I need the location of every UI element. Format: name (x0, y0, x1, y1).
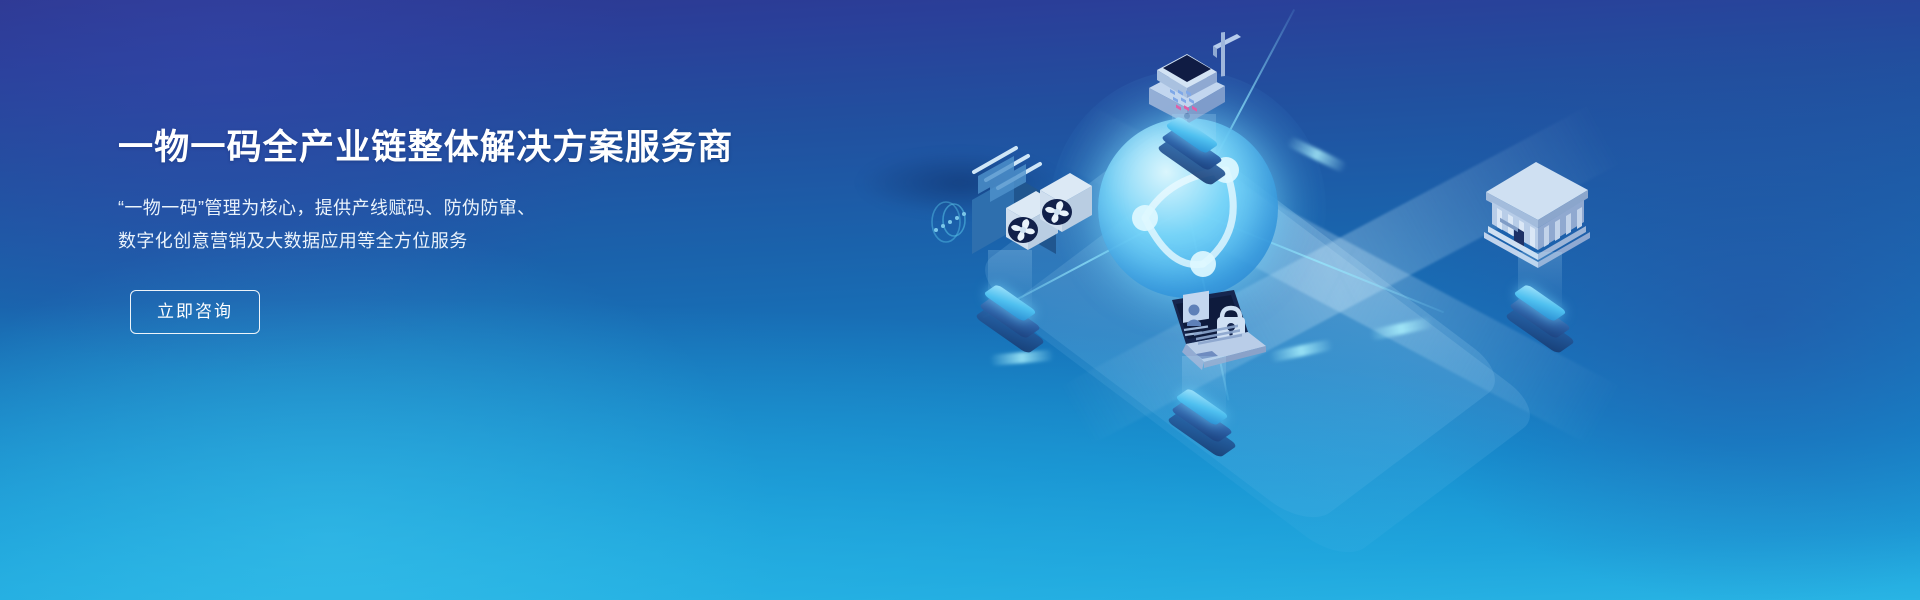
banner-subtitle-line-2: 数字化创意营销及大数据应用等全方位服务 (118, 225, 758, 258)
banner-subtitle-line-1: “一物一码”管理为核心，提供产线赋码、防伪防窜、 (118, 192, 758, 225)
banner-subtitle: “一物一码”管理为核心，提供产线赋码、防伪防窜、 数字化创意营销及大数据应用等全… (118, 192, 758, 259)
hero-banner: 一物一码全产业链整体解决方案服务商 “一物一码”管理为核心，提供产线赋码、防伪防… (0, 0, 1920, 600)
data-pulse (990, 349, 1055, 366)
pedestal-bank[interactable] (1508, 288, 1572, 334)
pedestal-server[interactable] (978, 288, 1042, 334)
consult-now-button[interactable]: 立即咨询 (130, 290, 260, 334)
pedestal-laptop[interactable] (1170, 392, 1234, 438)
banner-headline: 一物一码全产业链整体解决方案服务商 (118, 126, 758, 170)
bank-building-icon (1464, 140, 1604, 270)
banner-copy-block: 一物一码全产业链整体解决方案服务商 “一物一码”管理为核心，提供产线赋码、防伪防… (118, 126, 758, 334)
pedestal-pos[interactable] (1160, 120, 1224, 166)
hero-illustration (870, 0, 1920, 600)
